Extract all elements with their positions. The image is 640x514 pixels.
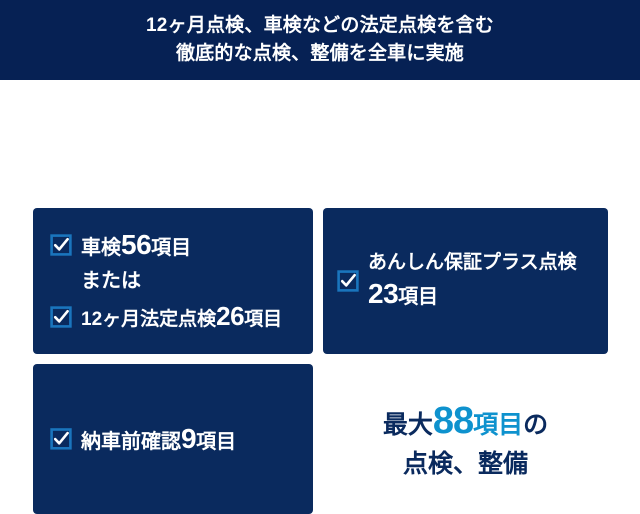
card-inspection: 車検56項目 または 12ヶ月法定点検26項目 [33,208,313,354]
summary-total: 最大88項目の 点検、整備 [323,364,608,514]
header-title-line-2: 徹底的な点検、整備を全車に実施 [176,40,464,68]
inspection-row-legal-text: 12ヶ月法定点検26項目 [81,302,282,332]
inspection-legal-prefix: 12ヶ月法定点検 [81,309,216,331]
card-predelivery: 納車前確認9項目 [33,364,313,514]
summary-line-2: 点検、整備 [403,449,528,479]
summary-particle: の [523,410,548,440]
warranty-number: 23 [368,278,398,310]
checkbox-checked-icon [337,270,359,292]
inspection-row-or: または [50,264,282,298]
predelivery-text: 納車前確認9項目 [81,423,236,455]
inspection-row-shaken: 車検56項目 [50,228,282,262]
warranty-suffix: 項目 [398,286,438,309]
inspection-shaken-suffix: 項目 [151,237,191,260]
predelivery-prefix: 納車前確認 [81,431,181,454]
checkbox-checked-icon [50,306,72,328]
warranty-count-line: 23項目 [368,278,577,310]
warranty-title: あんしん保証プラス点検 [368,252,577,274]
summary-unit: 項目 [473,410,523,440]
summary-line-1: 最大88項目の [383,399,548,445]
inspection-row-list: 車検56項目 または 12ヶ月法定点検26項目 [50,228,282,334]
predelivery-suffix: 項目 [196,431,236,454]
content-board: 車検56項目 または 12ヶ月法定点検26項目 [0,80,640,480]
inspection-row-legal: 12ヶ月法定点検26項目 [50,300,282,334]
inspection-legal-suffix: 項目 [244,309,282,331]
predelivery-content: 納車前確認9項目 [50,423,236,455]
inspection-shaken-prefix: 車検 [81,237,121,260]
checkbox-checked-icon [50,428,72,450]
warranty-text-stack: あんしん保証プラス点検 23項目 [368,252,577,310]
header-title-line-1: 12ヶ月点検、車検などの法定点検を含む [146,12,494,40]
inspection-shaken-number: 56 [121,229,151,261]
inspection-row-shaken-text: 車検56項目 [81,229,191,261]
predelivery-number: 9 [181,423,196,455]
summary-number: 88 [433,399,473,445]
checkbox-checked-icon [50,234,72,256]
inspection-or-label: または [81,270,141,293]
header-banner: 12ヶ月点検、車検などの法定点検を含む 徹底的な点検、整備を全車に実施 [0,0,640,80]
summary-prefix: 最大 [383,410,433,440]
card-warranty: あんしん保証プラス点検 23項目 [323,208,608,354]
inspection-legal-number: 26 [216,302,244,332]
warranty-content: あんしん保証プラス点検 23項目 [337,252,577,310]
